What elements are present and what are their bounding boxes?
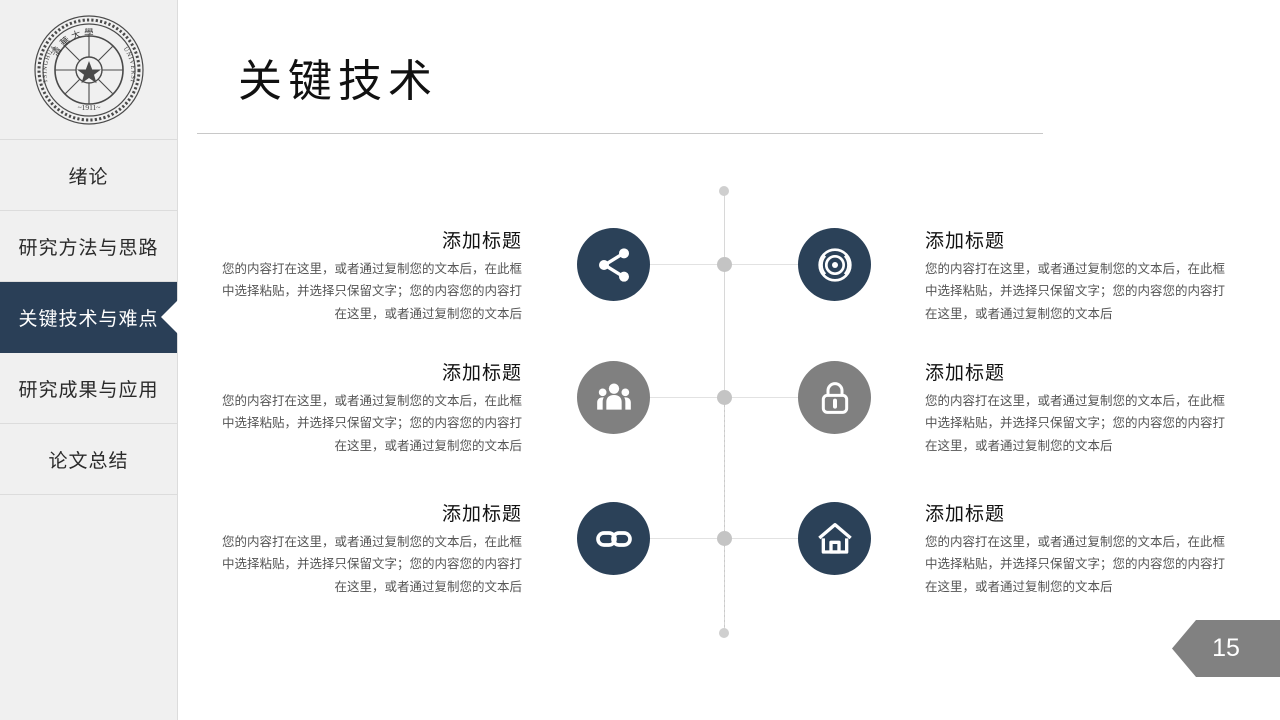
sidebar: 清 華 大 學 TSINGHUA UNIVERSITY ~1911~ 绪论 研究… (0, 0, 178, 720)
lock-icon (815, 378, 855, 418)
sidebar-item-label: 论文总结 (48, 446, 128, 473)
connector-dot (717, 257, 732, 272)
item-title: 添加标题 (210, 358, 522, 385)
sidebar-item-label: 关键技术与难点 (18, 304, 158, 331)
title-divider (197, 133, 1043, 134)
link-icon-circle[interactable] (577, 502, 650, 575)
sidebar-item-label: 研究成果与应用 (18, 375, 158, 402)
connector-dot (717, 531, 732, 546)
item-title: 添加标题 (925, 226, 1237, 253)
item-body: 您的内容打在这里，或者通过复制您的文本后，在此框中选择粘贴，并选择只保留文字；您… (925, 531, 1237, 598)
item-text-block: 添加标题 您的内容打在这里，或者通过复制您的文本后，在此框中选择粘贴，并选择只保… (210, 226, 522, 325)
item-body: 您的内容打在这里，或者通过复制您的文本后，在此框中选择粘贴，并选择只保留文字；您… (925, 390, 1237, 457)
svg-text:~1911~: ~1911~ (77, 103, 100, 112)
connector-dot (717, 390, 732, 405)
share-icon-circle[interactable] (577, 228, 650, 301)
disc-icon (815, 245, 855, 285)
logo-cell: 清 華 大 學 TSINGHUA UNIVERSITY ~1911~ (0, 0, 177, 140)
timeline-cap-bottom-icon (719, 628, 729, 638)
item-body: 您的内容打在这里，或者通过复制您的文本后，在此框中选择粘贴，并选择只保留文字；您… (210, 258, 522, 325)
item-body: 您的内容打在这里，或者通过复制您的文本后，在此框中选择粘贴，并选择只保留文字；您… (210, 531, 522, 598)
timeline-spine-dashed (724, 400, 725, 633)
link-icon (594, 519, 634, 559)
people-icon (594, 378, 634, 418)
share-icon (594, 245, 634, 285)
item-body: 您的内容打在这里，或者通过复制您的文本后，在此框中选择粘贴，并选择只保留文字；您… (925, 258, 1237, 325)
sidebar-filler (0, 495, 177, 496)
item-title: 添加标题 (210, 226, 522, 253)
page-number-label: 15 (1212, 634, 1240, 663)
page-title: 关键技术 (238, 60, 438, 104)
sidebar-nav: 绪论 研究方法与思路 关键技术与难点 研究成果与应用 论文总结 (0, 140, 177, 496)
tsinghua-university-seal-logo: 清 華 大 學 TSINGHUA UNIVERSITY ~1911~ (33, 14, 145, 126)
slide-root: 清 華 大 學 TSINGHUA UNIVERSITY ~1911~ 绪论 研究… (0, 0, 1280, 720)
sidebar-item-yanjiuchengguo[interactable]: 研究成果与应用 (0, 353, 177, 424)
item-text-block: 添加标题 您的内容打在这里，或者通过复制您的文本后，在此框中选择粘贴，并选择只保… (925, 358, 1237, 457)
sidebar-item-label: 绪论 (68, 162, 108, 189)
item-title: 添加标题 (210, 499, 522, 526)
lock-icon-circle[interactable] (798, 361, 871, 434)
item-text-block: 添加标题 您的内容打在这里，或者通过复制您的文本后，在此框中选择粘贴，并选择只保… (210, 499, 522, 598)
active-pointer-icon (161, 300, 178, 334)
item-body: 您的内容打在这里，或者通过复制您的文本后，在此框中选择粘贴，并选择只保留文字；您… (210, 390, 522, 457)
item-title: 添加标题 (925, 499, 1237, 526)
item-title: 添加标题 (925, 358, 1237, 385)
people-icon-circle[interactable] (577, 361, 650, 434)
item-text-block: 添加标题 您的内容打在这里，或者通过复制您的文本后，在此框中选择粘贴，并选择只保… (925, 499, 1237, 598)
sidebar-item-label: 研究方法与思路 (18, 233, 158, 260)
home-icon-circle[interactable] (798, 502, 871, 575)
item-text-block: 添加标题 您的内容打在这里，或者通过复制您的文本后，在此框中选择粘贴，并选择只保… (210, 358, 522, 457)
timeline-cap-top-icon (719, 186, 729, 196)
home-icon (815, 519, 855, 559)
sidebar-item-lunwenzongjie[interactable]: 论文总结 (0, 424, 177, 495)
disc-icon-circle[interactable] (798, 228, 871, 301)
sidebar-item-yanjiufangfa[interactable]: 研究方法与思路 (0, 211, 177, 282)
sidebar-item-xulun[interactable]: 绪论 (0, 140, 177, 211)
page-number-badge: 15 (1172, 620, 1280, 677)
sidebar-item-guanjianjishu[interactable]: 关键技术与难点 (0, 282, 177, 353)
item-text-block: 添加标题 您的内容打在这里，或者通过复制您的文本后，在此框中选择粘贴，并选择只保… (925, 226, 1237, 325)
